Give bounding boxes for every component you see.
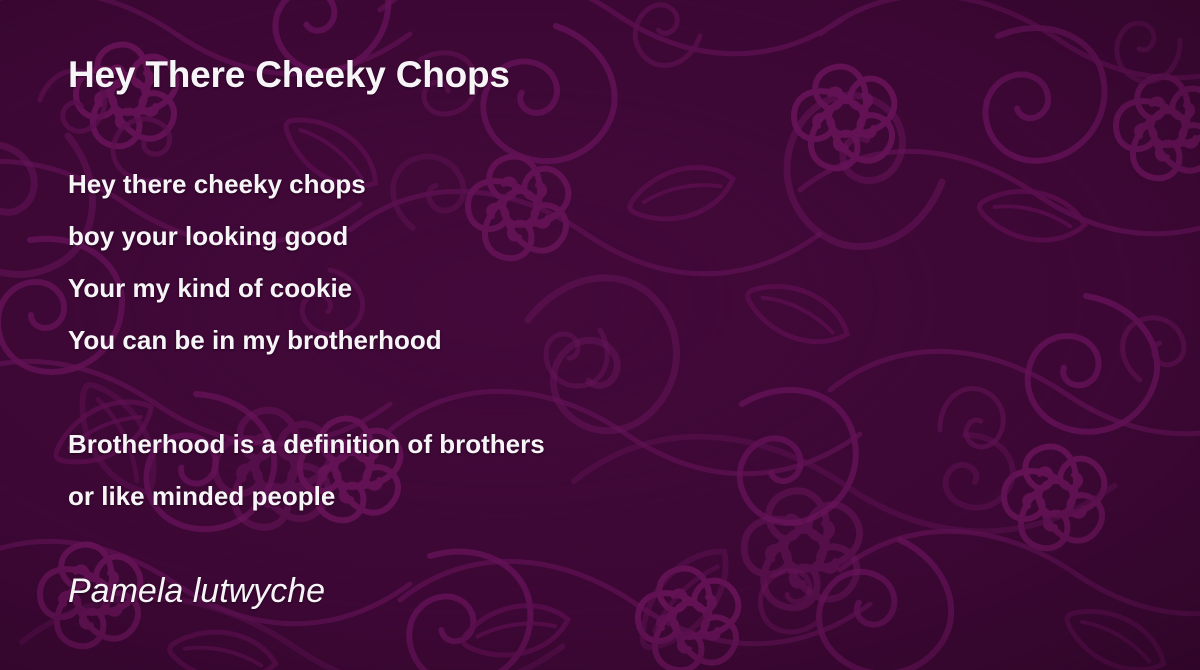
poem-author: Pamela lutwyche xyxy=(68,570,325,612)
poem-card: Hey There Cheeky Chops Hey there cheeky … xyxy=(0,0,1200,670)
poem-line: Brotherhood is a definition of brothers xyxy=(68,418,1128,470)
poem-line: Hey there cheeky chops xyxy=(68,158,1128,210)
poem-line: You can be in my brotherhood xyxy=(68,314,1128,366)
poem-body: Hey there cheeky chops boy your looking … xyxy=(68,158,1128,522)
poem-line: Your my kind of cookie xyxy=(68,262,1128,314)
poem-line: or like minded people xyxy=(68,470,1128,522)
poem-line: boy your looking good xyxy=(68,210,1128,262)
stanza: Brotherhood is a definition of brothers … xyxy=(68,418,1128,522)
stanza: Hey there cheeky chops boy your looking … xyxy=(68,158,1128,366)
poem-content: Hey There Cheeky Chops Hey there cheeky … xyxy=(68,0,1128,670)
poem-title: Hey There Cheeky Chops xyxy=(68,53,510,97)
